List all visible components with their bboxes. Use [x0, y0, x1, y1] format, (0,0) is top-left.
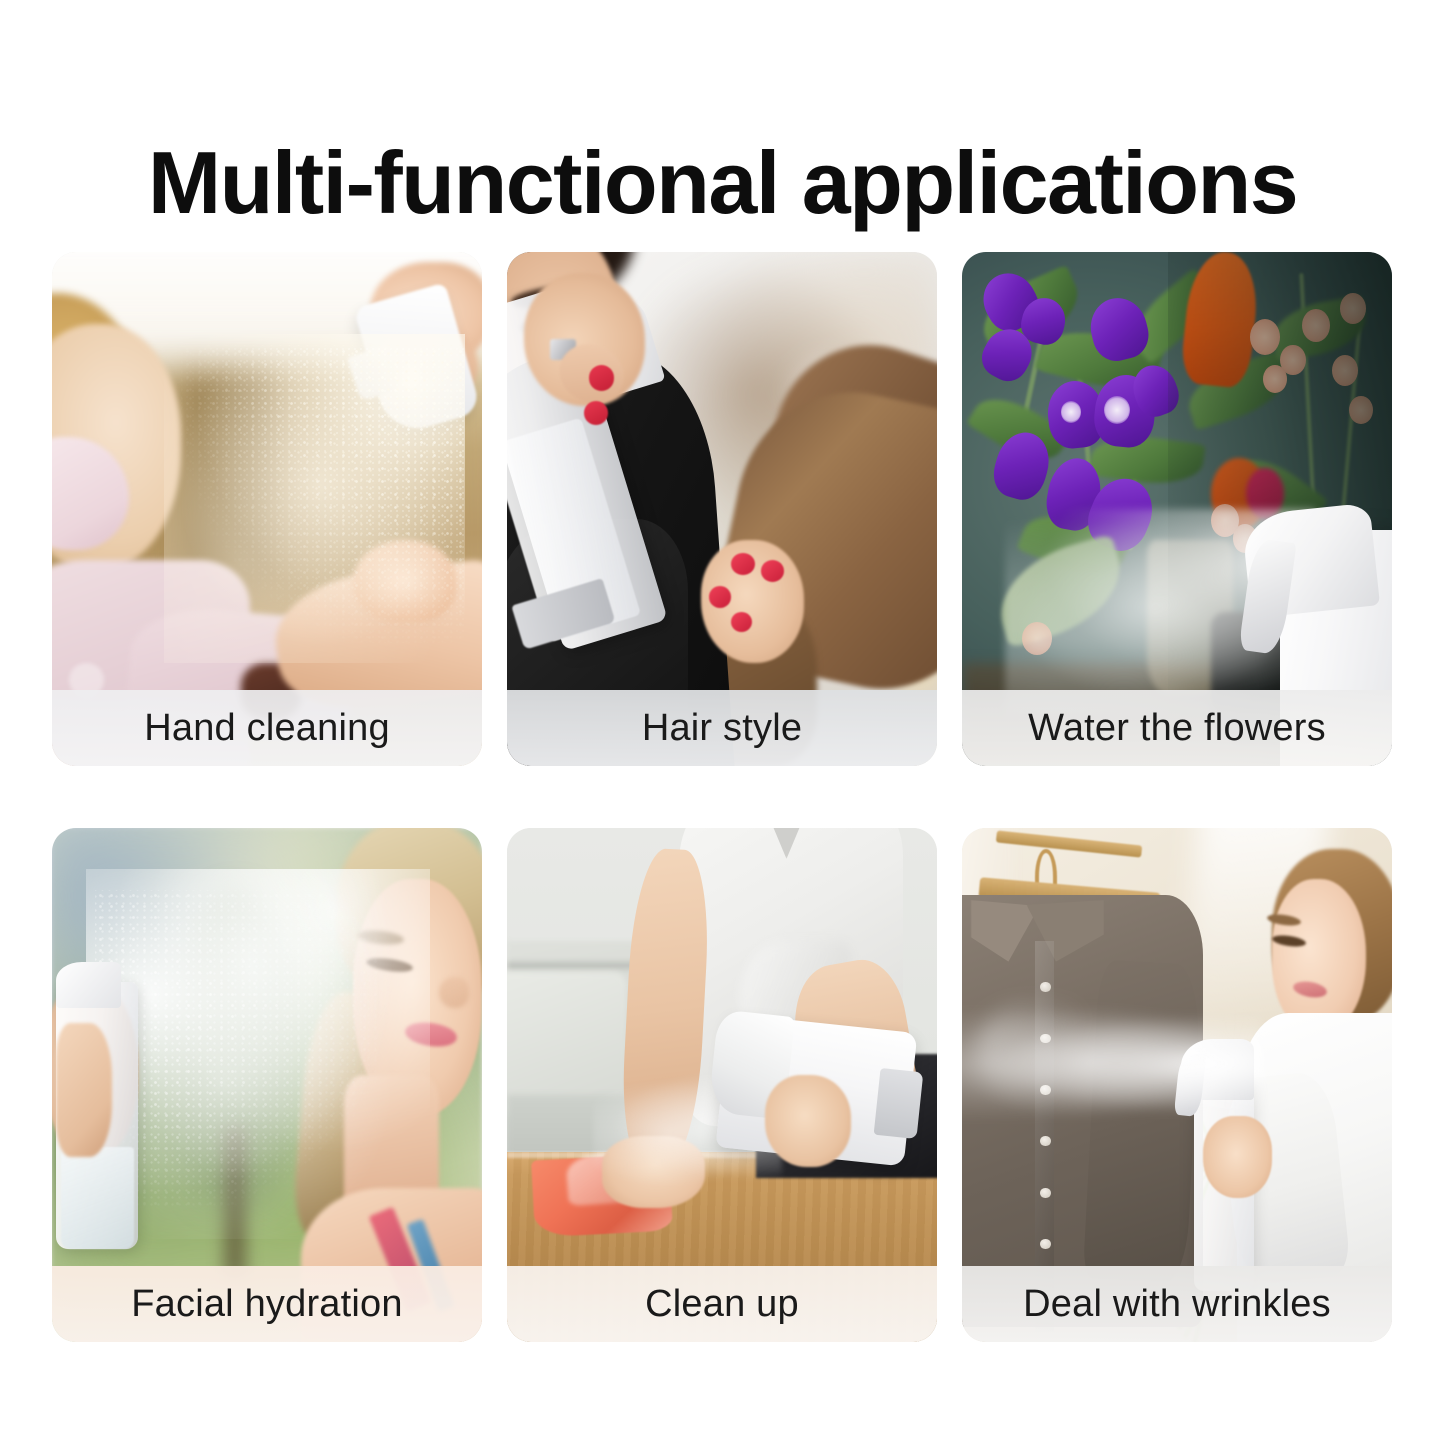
facial-hydration-scene-image [52, 828, 482, 1342]
water-the-flowers-scene-image [962, 252, 1392, 766]
card-caption-clean-up: Clean up [507, 1266, 937, 1342]
deal-with-wrinkles-scene-image [962, 828, 1392, 1342]
application-card-facial-hydration[interactable]: Facial hydration [52, 828, 482, 1342]
application-card-deal-with-wrinkles[interactable]: Deal with wrinkles [962, 828, 1392, 1342]
application-card-clean-up[interactable]: Clean up [507, 828, 937, 1342]
card-caption-water-the-flowers: Water the flowers [962, 690, 1392, 766]
applications-grid: Hand cleaning [52, 252, 1393, 1342]
application-card-hand-cleaning[interactable]: Hand cleaning [52, 252, 482, 766]
hair-style-scene-image [507, 252, 937, 766]
card-caption-facial-hydration: Facial hydration [52, 1266, 482, 1342]
card-caption-hand-cleaning: Hand cleaning [52, 690, 482, 766]
card-caption-hair-style: Hair style [507, 690, 937, 766]
application-card-water-the-flowers[interactable]: Water the flowers [962, 252, 1392, 766]
clean-up-scene-image [507, 828, 937, 1342]
application-card-hair-style[interactable]: Hair style [507, 252, 937, 766]
card-caption-deal-with-wrinkles: Deal with wrinkles [962, 1266, 1392, 1342]
hand-cleaning-scene-image [52, 252, 482, 766]
page-title: Multi-functional applications [0, 137, 1445, 229]
